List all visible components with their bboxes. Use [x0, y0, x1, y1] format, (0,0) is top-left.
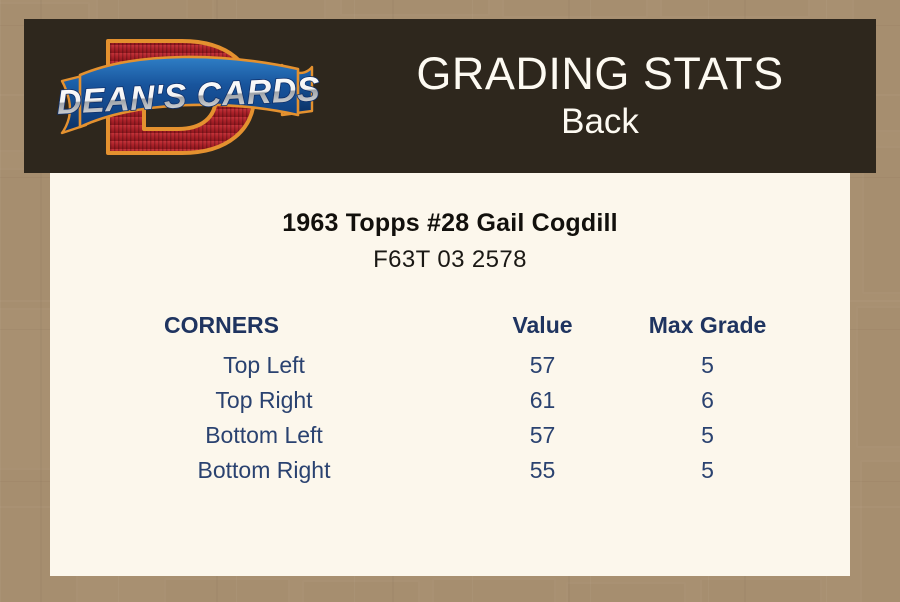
row-label: Top Left: [110, 348, 460, 383]
table-header-row: CORNERS Value Max Grade: [110, 312, 790, 348]
row-label: Bottom Right: [110, 453, 460, 488]
page-header: DEAN'S CARDS GRADING STATS Back: [24, 19, 876, 173]
column-header-corners: CORNERS: [110, 312, 460, 348]
table-row: Bottom Right 55 5: [110, 453, 790, 488]
table-row: Bottom Left 57 5: [110, 418, 790, 453]
row-value: 55: [460, 453, 625, 488]
row-value: 61: [460, 383, 625, 418]
row-value: 57: [460, 418, 625, 453]
card-serial-number: F63T 03 2578: [50, 246, 850, 274]
column-header-max-grade: Max Grade: [625, 312, 790, 348]
row-value: 57: [460, 348, 625, 383]
card-title: 1963 Topps #28 Gail Cogdill: [50, 209, 850, 238]
page-title: GRADING STATS: [416, 50, 783, 99]
row-label: Bottom Left: [110, 418, 460, 453]
table-row: Top Right 61 6: [110, 383, 790, 418]
row-label: Top Right: [110, 383, 460, 418]
page-subtitle: Back: [561, 101, 639, 142]
row-max-grade: 6: [625, 383, 790, 418]
grading-stats-table: CORNERS Value Max Grade Top Left 57 5 To…: [110, 312, 790, 488]
column-header-value: Value: [460, 312, 625, 348]
table-row: Top Left 57 5: [110, 348, 790, 383]
header-titles: GRADING STATS Back: [324, 19, 876, 173]
row-max-grade: 5: [625, 453, 790, 488]
content-panel: 1963 Topps #28 Gail Cogdill F63T 03 2578…: [50, 173, 850, 576]
table-body: Top Left 57 5 Top Right 61 6 Bottom Left…: [110, 348, 790, 488]
deans-cards-logo: DEAN'S CARDS: [50, 29, 320, 165]
row-max-grade: 5: [625, 418, 790, 453]
row-max-grade: 5: [625, 348, 790, 383]
